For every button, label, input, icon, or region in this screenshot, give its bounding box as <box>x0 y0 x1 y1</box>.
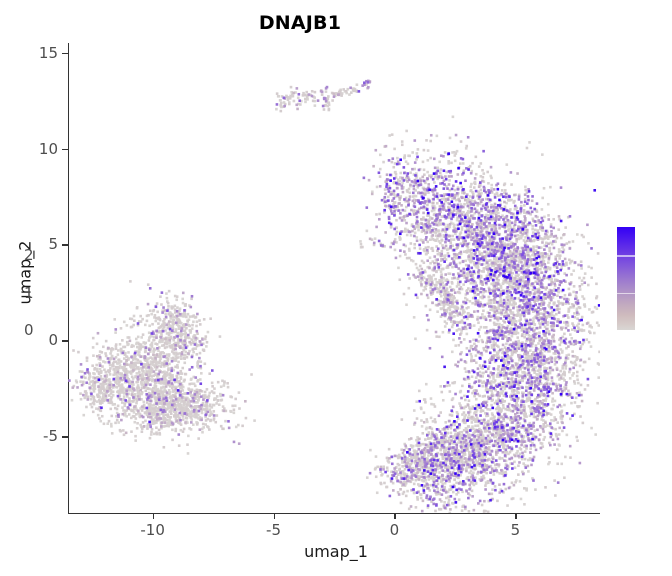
scatter-point <box>563 476 566 479</box>
scatter-point <box>155 362 158 365</box>
scatter-point <box>535 246 538 249</box>
scatter-point <box>459 391 462 394</box>
scatter-point <box>164 347 167 350</box>
scatter-point <box>551 379 554 382</box>
scatter-point <box>525 400 528 403</box>
scatter-point <box>467 434 470 437</box>
scatter-point <box>406 234 409 237</box>
scatter-point <box>436 135 439 138</box>
scatter-point <box>420 281 423 284</box>
scatter-point <box>136 307 139 310</box>
scatter-point <box>489 213 492 216</box>
scatter-point <box>547 236 550 239</box>
scatter-point <box>127 351 130 354</box>
scatter-point <box>482 172 485 175</box>
scatter-point <box>424 288 427 291</box>
scatter-point <box>461 228 464 231</box>
scatter-point <box>559 370 562 373</box>
scatter-point <box>410 444 413 447</box>
scatter-point <box>472 471 475 474</box>
scatter-point <box>186 443 189 446</box>
scatter-point <box>438 471 441 474</box>
x-tick-mark <box>515 513 516 519</box>
scatter-point <box>126 324 129 327</box>
scatter-point <box>135 402 138 405</box>
scatter-point <box>396 157 399 160</box>
scatter-point <box>561 430 564 433</box>
scatter-point <box>142 401 145 404</box>
scatter-point <box>560 411 563 414</box>
scatter-point <box>86 359 89 362</box>
scatter-point <box>168 363 171 366</box>
scatter-point <box>135 361 138 364</box>
scatter-point <box>585 338 588 341</box>
scatter-point <box>465 145 468 148</box>
scatter-point <box>399 172 402 175</box>
y-tick-label: 0 <box>48 331 58 349</box>
scatter-point <box>207 331 210 334</box>
scatter-point <box>401 461 404 464</box>
scatter-point <box>136 372 139 375</box>
scatter-point <box>147 314 150 317</box>
scatter-point <box>439 385 442 388</box>
scatter-point <box>581 234 584 237</box>
scatter-point <box>461 509 464 512</box>
scatter-point <box>374 468 377 471</box>
scatter-point <box>413 409 416 412</box>
scatter-point <box>580 260 583 263</box>
scatter-point <box>190 378 193 381</box>
scatter-point <box>461 431 464 434</box>
scatter-point <box>512 277 515 280</box>
scatter-point <box>176 306 179 309</box>
scatter-point <box>142 421 145 424</box>
scatter-point <box>566 314 569 317</box>
scatter-point <box>464 414 467 417</box>
scatter-point <box>575 397 578 400</box>
scatter-point <box>589 324 592 327</box>
scatter-point <box>597 376 600 379</box>
scatter-point <box>192 320 195 323</box>
scatter-point <box>201 431 204 434</box>
scatter-point <box>583 277 586 280</box>
scatter-point <box>366 230 369 233</box>
scatter-point <box>129 317 132 320</box>
scatter-point <box>560 348 563 351</box>
scatter-point <box>168 290 171 293</box>
scatter-point <box>498 472 501 475</box>
scatter-point <box>130 430 133 433</box>
scatter-point <box>126 395 129 398</box>
scatter-point <box>537 342 540 345</box>
scatter-point <box>181 372 184 375</box>
scatter-point <box>457 413 460 416</box>
scatter-point <box>505 343 508 346</box>
scatter-point <box>109 352 112 355</box>
scatter-point <box>157 322 160 325</box>
scatter-point <box>413 316 416 319</box>
scatter-point <box>543 436 546 439</box>
scatter-point <box>132 324 135 327</box>
scatter-point <box>158 432 161 435</box>
scatter-point <box>461 226 464 229</box>
scatter-point <box>419 444 422 447</box>
scatter-point <box>442 331 445 334</box>
scatter-point <box>576 439 579 442</box>
scatter-point <box>416 152 419 155</box>
scatter-point <box>456 285 459 288</box>
scatter-point <box>92 354 95 357</box>
scatter-point <box>408 248 411 251</box>
scatter-point <box>452 339 455 342</box>
scatter-point <box>168 342 171 345</box>
scatter-point <box>428 478 431 481</box>
scatter-point <box>511 481 514 484</box>
scatter-point <box>167 305 170 308</box>
scatter-point <box>138 371 141 374</box>
scatter-point <box>457 491 460 494</box>
scatter-point <box>366 476 369 479</box>
scatter-point <box>379 154 382 157</box>
x-tick-label: -5 <box>266 521 281 539</box>
scatter-point <box>115 381 118 384</box>
scatter-point <box>588 358 591 361</box>
scatter-point <box>147 283 150 286</box>
scatter-point <box>487 214 490 217</box>
scatter-point <box>502 404 505 407</box>
scatter-point <box>141 430 144 433</box>
scatter-point <box>464 405 467 408</box>
scatter-point <box>523 503 526 506</box>
scatter-point <box>484 484 487 487</box>
scatter-point <box>121 401 124 404</box>
scatter-point <box>106 422 109 425</box>
scatter-point <box>465 264 468 267</box>
scatter-point <box>104 371 107 374</box>
scatter-point <box>467 416 470 419</box>
scatter-point <box>426 159 429 162</box>
scatter-point <box>297 97 300 100</box>
x-tick-label: 0 <box>390 521 400 539</box>
scatter-point <box>93 373 96 376</box>
scatter-point <box>151 323 154 326</box>
scatter-point <box>306 98 309 101</box>
scatter-point <box>216 395 219 398</box>
scatter-point <box>148 324 151 327</box>
scatter-point <box>388 448 391 451</box>
scatter-point <box>393 148 396 151</box>
scatter-point <box>428 489 431 492</box>
scatter-point <box>109 381 112 384</box>
scatter-point <box>514 466 517 469</box>
scatter-point <box>579 415 582 418</box>
scatter-point <box>404 481 407 484</box>
scatter-point <box>419 493 422 496</box>
scatter-point <box>168 393 171 396</box>
scatter-point <box>204 391 207 394</box>
scatter-point <box>582 369 585 372</box>
scatter-point <box>528 141 531 144</box>
scatter-point <box>79 392 82 395</box>
scatter-point <box>531 254 534 257</box>
scatter-point <box>405 130 408 133</box>
scatter-point <box>423 411 426 414</box>
scatter-point <box>551 243 554 246</box>
scatter-point <box>419 247 422 250</box>
scatter-point <box>489 225 492 228</box>
scatter-point <box>442 399 445 402</box>
scatter-point <box>553 315 556 318</box>
scatter-point <box>457 344 460 347</box>
scatter-point <box>467 312 470 315</box>
scatter-point <box>418 390 421 393</box>
scatter-point <box>596 321 599 324</box>
scatter-point <box>206 396 209 399</box>
scatter-point <box>510 199 513 202</box>
scatter-point <box>588 308 591 311</box>
scatter-point <box>470 353 473 356</box>
scatter-point <box>189 413 192 416</box>
scatter-point <box>120 327 123 330</box>
scatter-point <box>185 416 188 419</box>
scatter-point <box>465 370 468 373</box>
scatter-point <box>196 320 199 323</box>
scatter-point <box>460 203 463 206</box>
scatter-point <box>209 419 212 422</box>
scatter-point <box>171 428 174 431</box>
scatter-point <box>427 297 430 300</box>
scatter-point <box>171 439 174 442</box>
scatter-point <box>474 425 477 428</box>
scatter-point <box>443 486 446 489</box>
scatter-point <box>509 285 512 288</box>
scatter-point <box>174 331 177 334</box>
scatter-point <box>408 287 411 290</box>
scatter-point <box>393 182 396 185</box>
scatter-point <box>500 300 503 303</box>
scatter-point <box>590 276 593 279</box>
scatter-point <box>547 261 550 264</box>
scatter-point <box>134 435 137 438</box>
scatter-point <box>229 410 232 413</box>
scatter-point <box>360 243 363 246</box>
scatter-point <box>81 370 84 373</box>
scatter-point <box>196 363 199 366</box>
scatter-point <box>451 399 454 402</box>
scatter-point <box>429 309 432 312</box>
scatter-point <box>475 173 478 176</box>
scatter-point <box>447 496 450 499</box>
scatter-point <box>328 104 331 107</box>
y-tick-label: 10 <box>39 140 58 158</box>
scatter-point <box>155 368 158 371</box>
scatter-point <box>227 386 230 389</box>
scatter-point <box>440 168 443 171</box>
scatter-point <box>529 447 532 450</box>
scatter-point <box>515 452 518 455</box>
scatter-point <box>188 427 191 430</box>
scatter-point <box>481 313 484 316</box>
scatter-point <box>568 259 571 262</box>
scatter-point <box>480 326 483 329</box>
scatter-point <box>386 486 389 489</box>
scatter-point <box>197 379 200 382</box>
scatter-point <box>480 189 483 192</box>
scatter-point <box>139 424 142 427</box>
scatter-point <box>204 362 207 365</box>
scatter-point <box>218 403 221 406</box>
scatter-point <box>165 340 168 343</box>
scatter-point <box>517 464 520 467</box>
scatter-point <box>219 335 222 338</box>
scatter-point <box>403 230 406 233</box>
scatter-point <box>292 95 295 98</box>
scatter-point <box>444 421 447 424</box>
scatter-point <box>154 314 157 317</box>
scatter-point <box>197 399 200 402</box>
scatter-point <box>555 313 558 316</box>
scatter-point <box>177 361 180 364</box>
scatter-point <box>380 474 383 477</box>
scatter-point <box>382 465 385 468</box>
scatter-point <box>555 434 558 437</box>
scatter-point <box>146 320 149 323</box>
scatter-point <box>564 294 567 297</box>
scatter-point <box>414 479 417 482</box>
scatter-point <box>391 133 394 136</box>
scatter-point <box>470 183 473 186</box>
scatter-point <box>402 470 405 473</box>
scatter-point <box>422 443 425 446</box>
scatter-point <box>577 323 580 326</box>
scatter-point <box>433 239 436 242</box>
scatter-point <box>245 417 248 420</box>
scatter-point <box>413 168 416 171</box>
scatter-point <box>156 311 159 314</box>
scatter-point <box>455 457 458 460</box>
scatter-point <box>478 250 481 253</box>
scatter-point <box>420 406 423 409</box>
scatter-point <box>460 434 463 437</box>
scatter-point <box>531 410 534 413</box>
scatter-point <box>140 336 143 339</box>
scatter-point <box>103 422 106 425</box>
scatter-point <box>110 398 113 401</box>
scatter-point <box>447 252 450 255</box>
scatter-point <box>144 324 147 327</box>
scatter-point <box>522 279 525 282</box>
scatter-point <box>75 381 78 384</box>
scatter-point <box>524 458 527 461</box>
scatter-point <box>450 238 453 241</box>
scatter-point <box>471 162 474 165</box>
scatter-point <box>509 224 512 227</box>
scatter-point <box>105 340 108 343</box>
scatter-point <box>541 197 544 200</box>
scatter-point <box>434 278 437 281</box>
scatter-point <box>534 488 537 491</box>
scatter-point <box>431 210 434 213</box>
scatter-point <box>468 399 471 402</box>
scatter-point <box>590 267 593 270</box>
scatter-point <box>117 421 120 424</box>
scatter-point <box>423 168 426 171</box>
scatter-point <box>570 273 573 276</box>
scatter-point <box>475 361 478 364</box>
scatter-point <box>148 336 151 339</box>
x-tick-label: -10 <box>140 521 165 539</box>
scatter-point <box>559 344 562 347</box>
scatter-point <box>487 182 490 185</box>
scatter-point <box>93 390 96 393</box>
scatter-point <box>89 381 92 384</box>
scatter-point <box>220 399 223 402</box>
scatter-point <box>598 351 600 354</box>
scatter-point <box>552 218 555 221</box>
scatter-point <box>180 387 183 390</box>
scatter-point <box>453 238 456 241</box>
scatter-point <box>529 457 532 460</box>
scatter-point <box>564 226 567 229</box>
scatter-point <box>436 202 439 205</box>
scatter-point <box>485 472 488 475</box>
scatter-point <box>456 150 459 153</box>
scatter-point <box>446 432 449 435</box>
scatter-point <box>223 384 226 387</box>
scatter-point <box>416 267 419 270</box>
scatter-point <box>427 454 430 457</box>
scatter-point <box>99 420 102 423</box>
scatter-point <box>486 171 489 174</box>
scatter-point <box>114 422 117 425</box>
scatter-point <box>424 401 427 404</box>
scatter-point <box>378 213 381 216</box>
scatter-point <box>304 98 307 101</box>
scatter-point <box>455 482 458 485</box>
scatter-point <box>543 367 546 370</box>
scatter-point <box>198 319 201 322</box>
scatter-point <box>477 424 480 427</box>
scatter-point <box>471 421 474 424</box>
scatter-point <box>464 399 467 402</box>
scatter-point <box>150 433 153 436</box>
scatter-point <box>448 499 451 502</box>
scatter-point <box>523 336 526 339</box>
scatter-point <box>449 512 452 513</box>
scatter-point <box>126 356 129 359</box>
scatter-point <box>153 309 156 312</box>
scatter-point <box>117 405 120 408</box>
scatter-point <box>197 437 200 440</box>
scatter-point <box>493 473 496 476</box>
scatter-point <box>194 385 197 388</box>
scatter-point <box>437 253 440 256</box>
scatter-point <box>469 185 472 188</box>
scatter-point <box>531 228 534 231</box>
scatter-point <box>138 392 141 395</box>
scatter-point <box>450 320 453 323</box>
scatter-point <box>581 316 584 319</box>
scatter-point <box>411 151 414 154</box>
scatter-point <box>356 83 359 86</box>
scatter-point <box>597 324 600 327</box>
scatter-point <box>409 171 412 174</box>
scatter-point <box>88 378 91 381</box>
scatter-point <box>383 482 386 485</box>
scatter-point <box>89 403 92 406</box>
scatter-point <box>191 324 194 327</box>
scatter-point <box>399 238 402 241</box>
